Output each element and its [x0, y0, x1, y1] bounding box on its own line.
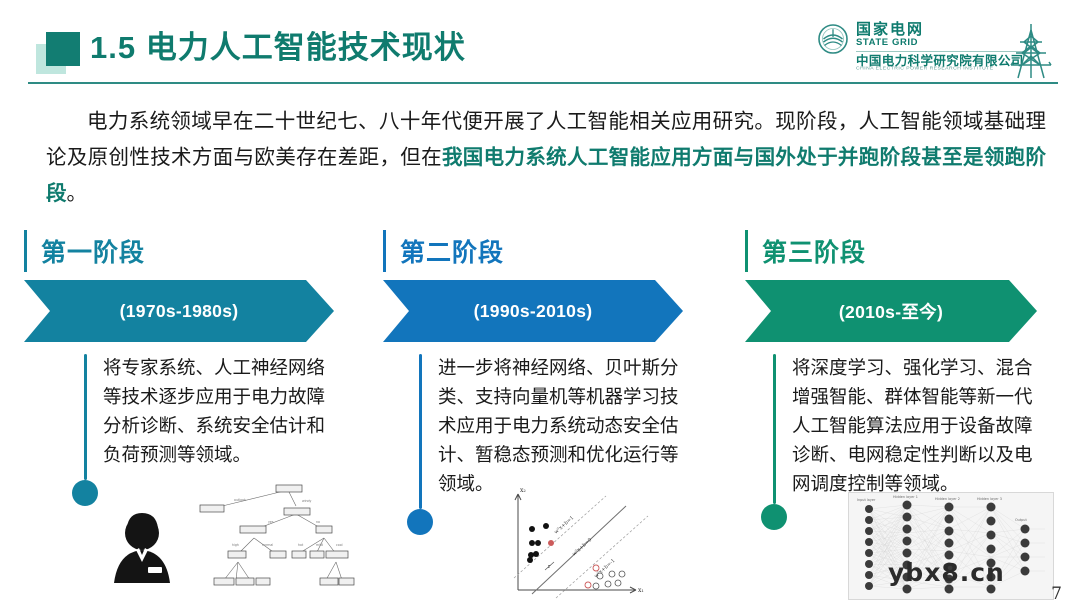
stage-1-connector-dot	[72, 480, 98, 506]
logo-institute-en: CHINA ELECTRIC POWER RESEARCH INSTITUTE	[856, 67, 1024, 72]
stage-3-description-block: 将深度学习、强化学习、混合增强智能、群体智能等新一代人工智能算法应用于设备故障诊…	[745, 354, 1075, 504]
stage-3-arrow-row: (2010s-至今)	[745, 280, 1075, 342]
body-paragraph: 电力系统领域早在二十世纪七、八十年代便开展了人工智能相关应用研究。现阶段，人工智…	[46, 104, 1046, 212]
svg-text:high: high	[232, 543, 239, 547]
svg-text:no: no	[316, 520, 320, 524]
stage-1-name: 第一阶段	[41, 233, 145, 269]
stage-1-description-block: 将专家系统、人工神经网络等技术逐步应用于电力故障分析诊断、系统安全估计和负荷预测…	[24, 354, 354, 480]
stage-column-3: 第三阶段 (2010s-至今) 将深度学习、强化学习、混合增强智能、群体智能等新…	[745, 228, 1075, 504]
stage-1-description: 将专家系统、人工神经网络等技术逐步应用于电力故障分析诊断、系统安全估计和负荷预测…	[103, 354, 343, 480]
state-grid-globe-icon	[818, 24, 848, 59]
stage-3-connector-line	[773, 354, 776, 504]
logo-company-cn: 国家电网	[856, 22, 1024, 37]
stage-3-tick	[745, 230, 748, 272]
stage-3-label: 第三阶段	[745, 228, 1075, 274]
svm-y-axis-label: x₂	[520, 487, 526, 494]
svg-text:Input layer: Input layer	[857, 498, 876, 502]
svg-text:hot: hot	[298, 543, 304, 547]
header-accent-square-front	[46, 32, 80, 66]
svg-text:Output: Output	[1015, 518, 1027, 522]
person-silhouette-icon	[96, 505, 188, 590]
stage-3-period: (2010s-至今)	[839, 299, 943, 324]
stage-2-arrow-row: (1990s-2010s)	[383, 280, 713, 342]
paragraph-normal-text-2: 。	[67, 182, 88, 205]
stage-column-2: 第二阶段 (1990s-2010s) 进一步将神经网络、贝叶斯分类、支持向量机等…	[383, 228, 713, 509]
svg-text:yes: yes	[268, 520, 274, 524]
stage-1-label: 第一阶段	[24, 228, 354, 274]
stage-3-arrow: (2010s-至今)	[745, 280, 1037, 342]
page-title: 1.5 电力人工智能技术现状	[90, 22, 466, 67]
svg-text:Hidden layer 3: Hidden layer 3	[977, 497, 1002, 501]
stage-1-period: (1970s-1980s)	[120, 301, 239, 322]
stage-2-tick	[383, 230, 386, 272]
transmission-tower-icon	[1000, 22, 1062, 89]
site-watermark: ybx8.cn	[888, 558, 1005, 587]
svg-text:outlook: outlook	[234, 498, 246, 502]
stage-column-1: 第一阶段 (1970s-1980s) 将专家系统、人工神经网络等技术逐步应用于电…	[24, 228, 354, 480]
stage-2-name: 第二阶段	[400, 233, 504, 269]
svg-text:Hidden layer 1: Hidden layer 1	[893, 495, 918, 499]
stage-2-label: 第二阶段	[383, 228, 713, 274]
svm-x-axis-label: x₁	[638, 587, 644, 594]
svm-margin-diagram: x₂ x₁ wᵀx+b=1 wᵀx+b=0 wᵀx+b=-1 r	[496, 482, 666, 608]
stage-2-connector-dot	[407, 509, 433, 535]
stage-3-description: 将深度学习、强化学习、混合增强智能、群体智能等新一代人工智能算法应用于设备故障诊…	[792, 354, 1047, 504]
svg-text:mild: mild	[316, 543, 323, 547]
logo-company-en: STATE GRID	[856, 38, 1024, 48]
slide-root: 1.5 电力人工智能技术现状 国家电网 STATE GRID 中国电力科学研究院…	[0, 0, 1080, 608]
decision-tree-diagram: outlook windy yes no high normal hot mil…	[176, 480, 356, 605]
svg-text:cool: cool	[336, 543, 343, 547]
page-number: 7	[1051, 584, 1062, 604]
svg-text:normal: normal	[262, 543, 273, 547]
stage-2-period: (1990s-2010s)	[474, 301, 593, 322]
svg-text:Hidden layer 2: Hidden layer 2	[935, 497, 960, 501]
brand-logo: 国家电网 STATE GRID 中国电力科学研究院有限公司 CHINA ELEC…	[818, 22, 1024, 72]
stage-2-arrow: (1990s-2010s)	[383, 280, 683, 342]
stage-3-connector-dot	[761, 504, 787, 530]
stage-2-connector-line	[419, 354, 422, 509]
stage-3-name: 第三阶段	[762, 233, 866, 269]
stage-1-tick	[24, 230, 27, 272]
stage-1-connector-line	[84, 354, 87, 480]
svg-text:windy: windy	[302, 499, 312, 503]
stage-1-arrow-row: (1970s-1980s)	[24, 280, 354, 342]
stage-1-arrow: (1970s-1980s)	[24, 280, 334, 342]
header-divider	[28, 82, 1058, 84]
logo-divider	[856, 51, 1024, 52]
